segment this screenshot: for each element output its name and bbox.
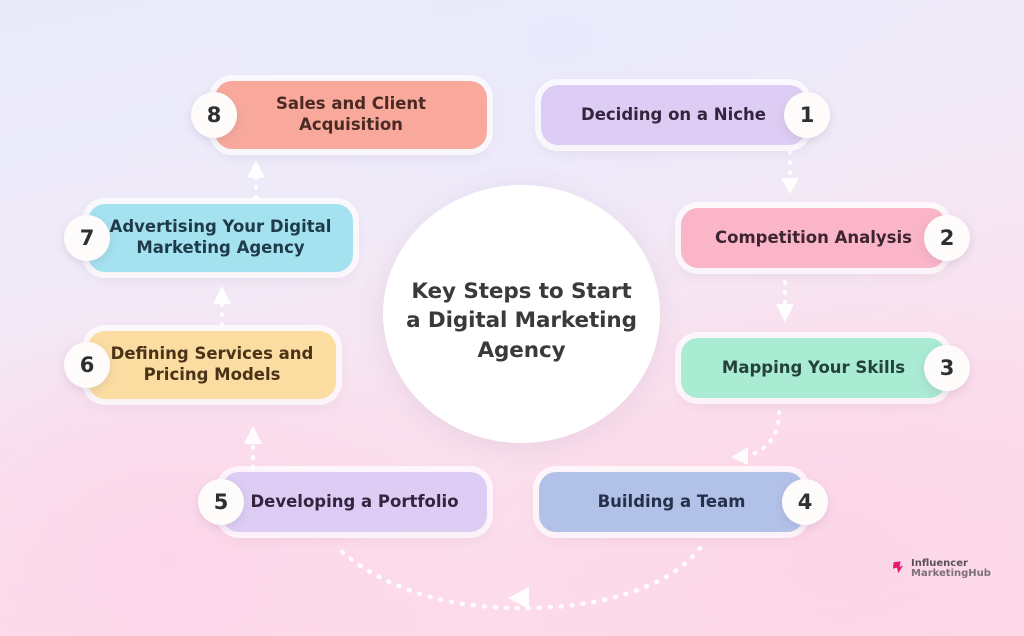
step-item-7[interactable]: Advertising Your Digital Marketing Agenc…	[88, 204, 353, 272]
step-badge-2: 2	[924, 215, 970, 261]
infographic-canvas: Key Steps to Start a Digital Marketing A…	[0, 0, 1024, 636]
connector-6-to-7	[213, 286, 231, 325]
step-pill-2[interactable]: Competition Analysis 2	[681, 208, 946, 268]
step-item-5[interactable]: Developing a Portfolio 5	[222, 472, 487, 532]
step-badge-3: 3	[924, 345, 970, 391]
connector-2-to-3	[776, 282, 794, 322]
step-label-4: Building a Team	[584, 492, 760, 513]
connector-5-to-6	[244, 426, 262, 468]
step-label-7: Advertising Your Digital Marketing Agenc…	[96, 217, 346, 258]
connector-3-to-4	[731, 412, 779, 465]
step-item-1[interactable]: Deciding on a Niche 1	[541, 85, 806, 145]
step-badge-4: 4	[782, 479, 828, 525]
step-pill-6[interactable]: Defining Services and Pricing Models 6	[88, 331, 336, 399]
step-pill-5[interactable]: Developing a Portfolio 5	[222, 472, 487, 532]
center-title: Key Steps to Start a Digital Marketing A…	[383, 277, 660, 365]
step-pill-3[interactable]: Mapping Your Skills 3	[681, 338, 946, 398]
step-label-2: Competition Analysis	[701, 228, 926, 249]
step-item-3[interactable]: Mapping Your Skills 3	[681, 338, 946, 398]
influencer-arrow-icon	[892, 559, 907, 579]
connector-7-to-8	[247, 160, 265, 198]
step-pill-1[interactable]: Deciding on a Niche 1	[541, 85, 806, 145]
brand-logo: Influencer MarketingHub	[892, 559, 991, 580]
step-item-6[interactable]: Defining Services and Pricing Models 6	[88, 331, 336, 399]
brand-logo-line1: Influencer	[911, 558, 968, 569]
step-badge-5: 5	[198, 479, 244, 525]
connector-1-to-2	[781, 152, 799, 194]
connector-4-to-5	[338, 548, 700, 609]
step-badge-1: 1	[784, 92, 830, 138]
step-badge-6: 6	[64, 342, 110, 388]
step-label-1: Deciding on a Niche	[567, 105, 780, 126]
step-badge-7: 7	[64, 215, 110, 261]
center-hub: Key Steps to Start a Digital Marketing A…	[383, 185, 660, 443]
brand-logo-text: Influencer MarketingHub	[911, 559, 991, 580]
step-label-3: Mapping Your Skills	[708, 358, 919, 379]
step-pill-7[interactable]: Advertising Your Digital Marketing Agenc…	[88, 204, 353, 272]
step-item-8[interactable]: Sales and Client Acquisition 8	[215, 81, 487, 149]
step-label-6: Defining Services and Pricing Models	[97, 344, 328, 385]
step-label-8: Sales and Client Acquisition	[262, 94, 440, 135]
step-pill-8[interactable]: Sales and Client Acquisition 8	[215, 81, 487, 149]
step-pill-4[interactable]: Building a Team 4	[539, 472, 804, 532]
brand-logo-line2: MarketingHub	[911, 568, 991, 579]
step-label-5: Developing a Portfolio	[236, 492, 472, 513]
step-item-4[interactable]: Building a Team 4	[539, 472, 804, 532]
step-item-2[interactable]: Competition Analysis 2	[681, 208, 946, 268]
step-badge-8: 8	[191, 92, 237, 138]
